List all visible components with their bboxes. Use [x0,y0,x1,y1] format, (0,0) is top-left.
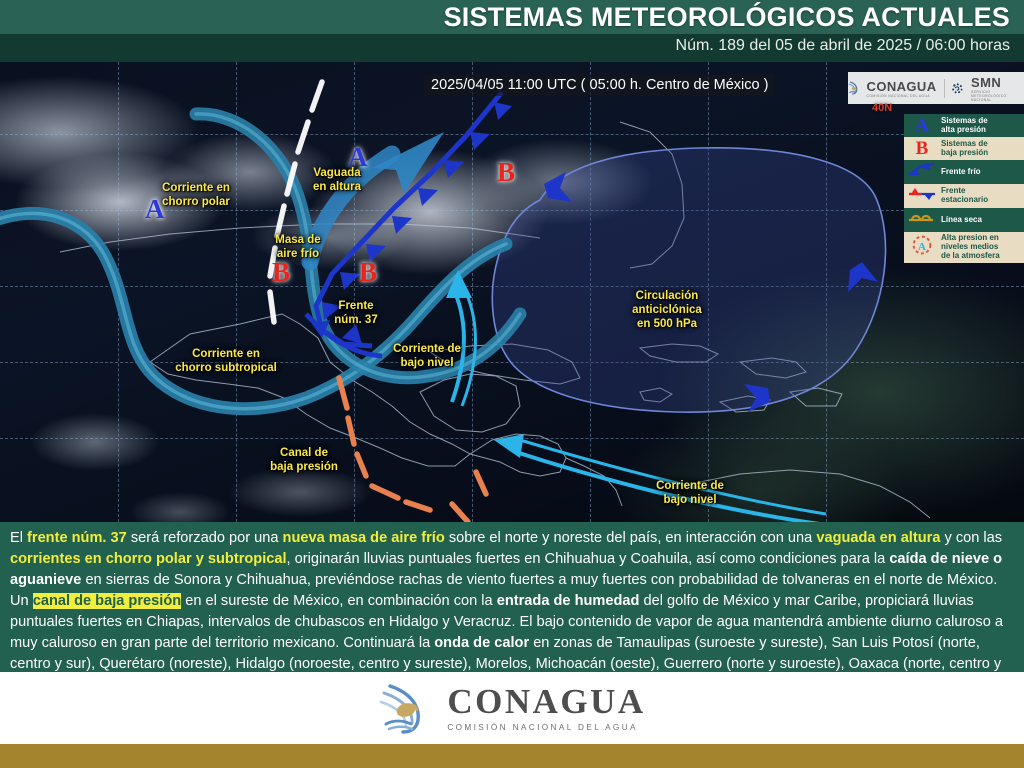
satellite-imagery [0,62,1024,522]
cold-front-icon [907,162,937,182]
smn-logo-subtext: SERVICIO METEOROLÓGICO NACIONAL [971,90,1024,102]
map-legend[interactable]: ASistemas de alta presiónBSistemas de ba… [904,114,1024,263]
annotation-corriente-de-bajo-nivel-sur: Corriente de bajo nivel [620,480,760,508]
annotation-corriente-chorro-polar: Corriente en chorro polar [126,182,266,210]
bulletin-number-date: Núm. 189 del 05 de abril de 2025 / 06:00… [676,37,1010,55]
legend-row-dry-line[interactable]: Línea seca [904,208,1024,232]
summary-segment: entrada de humedad [497,593,640,609]
legend-label: Sistemas de alta presión [941,117,988,135]
legend-row-stationary-front[interactable]: Frente estacionario [904,184,1024,208]
grid-line [0,134,1024,135]
summary-segment: onda de calor [434,635,529,651]
summary-segment: y con las [940,530,1002,546]
annotation-vaguada-en-altura: Vaguada en altura [267,167,407,195]
symbol-baja-presion-oeste: B [272,257,290,288]
footer: CONAGUA COMISIÓN NACIONAL DEL AGUA [0,672,1024,744]
annotation-corriente-de-bajo-nivel-norte: Corriente de bajo nivel [357,343,497,371]
map-logo-bar: CONAGUA COMISIÓN NACIONAL DEL AGUA SMN S… [848,72,1024,104]
annotation-corriente-chorro-subtropical: Corriente en chorro subtropical [156,348,296,376]
grid-line [472,62,473,522]
legend-label: Frente estacionario [941,187,988,205]
page-title: SISTEMAS METEOROLÓGICOS ACTUALES [444,2,1010,33]
stationary-front-icon [907,186,937,206]
conagua-logo-text: CONAGUA [867,79,937,94]
grid-line [118,62,119,522]
weather-bulletin-page: SISTEMAS METEOROLÓGICOS ACTUALES Núm. 18… [0,0,1024,768]
legend-label: Frente frío [941,168,981,177]
legend-label: Alta presion en niveles medios de la atm… [941,234,1000,261]
annotation-frente-num-37: Frente núm. 37 [286,300,426,328]
annotation-circulacion-anticiclonica: Circulación anticiclónica en 500 hPa [597,290,737,331]
footer-tagline: COMISIÓN NACIONAL DEL AGUA [447,723,645,732]
summary-segment: en el sureste de México, en combinación … [181,593,497,609]
summary-segment: nueva masa de aire frío [283,530,445,546]
smn-logo-icon [951,79,964,98]
annotation-canal-de-baja-presion: Canal de baja presión [234,447,374,475]
symbol-baja-presion-noreste: B [497,157,515,188]
grid-line [826,62,827,522]
legend-label: Línea seca [941,216,982,225]
conagua-logo-subtext: COMISIÓN NACIONAL DEL AGUA [867,94,937,98]
mid-level-high-icon: A [907,234,937,260]
smn-logo-text: SMN [971,75,1024,90]
forecast-summary-text: El frente núm. 37 será reforzado por una… [10,528,1014,696]
latitude-label-40n: 40N [872,102,892,114]
svg-text:A: A [918,241,926,253]
summary-segment: corrientes en chorro polar y subtropical [10,551,287,567]
conagua-logo-icon [848,77,860,99]
footer-gold-bar [0,744,1024,768]
legend-row-letter-a[interactable]: ASistemas de alta presión [904,114,1024,137]
grid-line [0,438,1024,439]
legend-label: Sistemas de baja presión [941,140,988,158]
conagua-footer-logo-icon [378,680,434,736]
letter-a-icon: A [907,116,937,135]
legend-row-letter-b[interactable]: BSistemas de baja presión [904,137,1024,160]
symbol-baja-presion-centro: B [359,257,377,288]
summary-segment: El [10,530,27,546]
logo-divider [944,79,945,98]
legend-row-cold-front[interactable]: Frente frío [904,160,1024,184]
grid-line [0,362,1024,363]
forecast-summary-box: El frente núm. 37 será reforzado por una… [0,522,1024,672]
summary-segment: , originarán lluvias puntuales fuertes e… [287,551,890,567]
annotation-masa-de-aire-frio: Masa de aire frío [228,234,368,262]
summary-segment: será reforzado por una [127,530,283,546]
grid-line [590,62,591,522]
grid-line [0,286,1024,287]
footer-brand: CONAGUA [447,684,645,719]
letter-b-icon: B [907,139,937,158]
satellite-weather-map[interactable]: 2025/04/05 11:00 UTC ( 05:00 h. Centro d… [0,62,1024,522]
summary-segment: frente núm. 37 [27,530,127,546]
summary-segment: sobre el norte y noreste del país, en in… [445,530,817,546]
map-timestamp: 2025/04/05 11:00 UTC ( 05:00 h. Centro d… [424,74,775,96]
summary-segment: canal de baja presión [33,593,181,609]
dry-line-icon [907,210,937,230]
legend-row-mid-level-high[interactable]: AAlta presion en niveles medios de la at… [904,232,1024,263]
summary-segment: vaguada en altura [816,530,940,546]
